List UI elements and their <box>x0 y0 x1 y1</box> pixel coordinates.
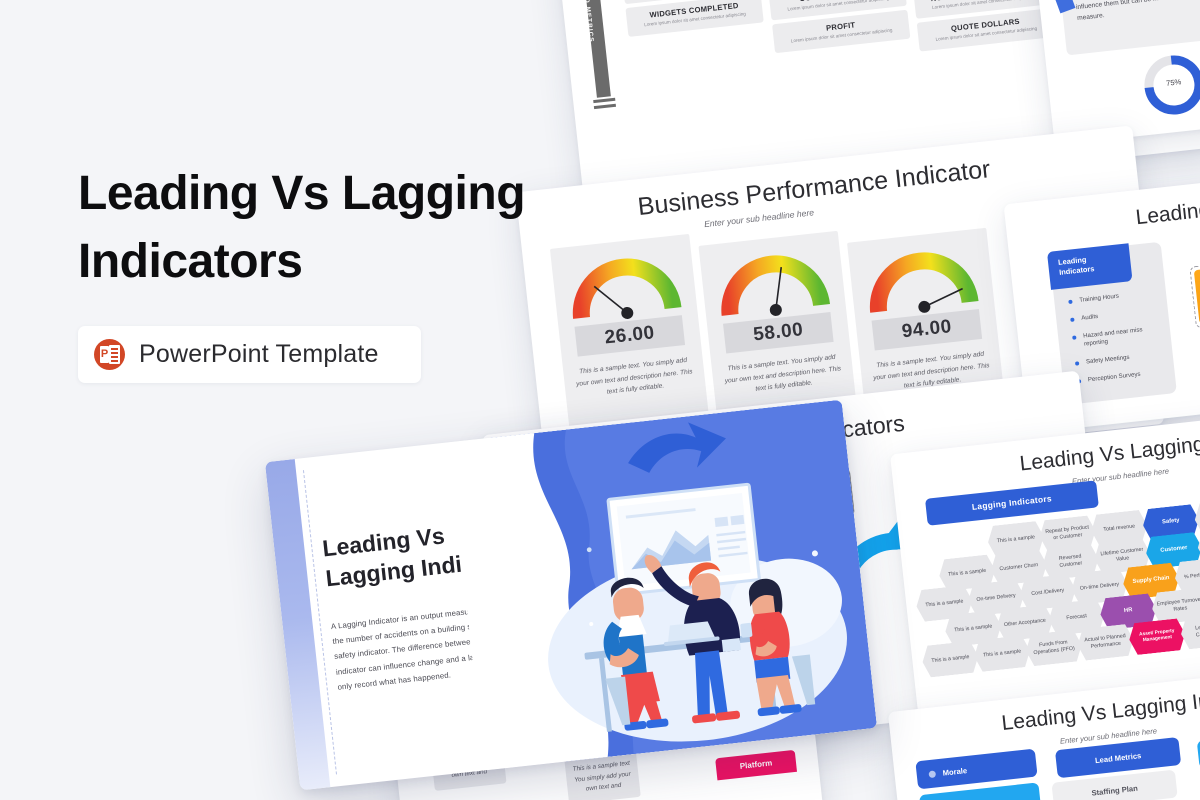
poster-stage: LEAD METRICS LAG METRICS ATTENDANCE Lore… <box>0 0 1200 800</box>
leading-indicator-bubble[interactable]: Leading Indicators Predict goal achievem… <box>1058 0 1200 55</box>
list-item[interactable]: Audits <box>1070 306 1162 325</box>
bubble-text: Predict goal achievement, you can influe… <box>1074 0 1200 25</box>
orange-placeholder-shape <box>1189 261 1200 329</box>
hex-cell[interactable]: This is a sample <box>973 635 1032 673</box>
metric-column: COSTS COMPONENT COST Lorem ipsum dolor s… <box>767 0 911 57</box>
hex-cell[interactable]: Funds From Operations (FFO) <box>1024 629 1083 667</box>
list-item[interactable]: Hazard and near miss reporting <box>1072 324 1165 351</box>
list-item[interactable]: Perception Surveys <box>1077 368 1169 387</box>
hex-cell[interactable]: This is a sample <box>921 640 980 678</box>
button-label: Morale <box>942 766 967 778</box>
card-header: Leading Indicators <box>1047 243 1133 290</box>
meeting-illustration-svg <box>449 400 877 771</box>
left-accent-stripe <box>265 459 330 790</box>
hex-cell-asset-property[interactable]: Asset/ Property Management <box>1128 618 1187 656</box>
list-item[interactable]: Training Hours <box>1068 288 1160 307</box>
platform-pill[interactable]: Platform <box>715 750 797 781</box>
metric-column: DELIVERY MATERIAL AVAILABLE Lorem ipsum … <box>620 0 764 41</box>
leading-indicator-items: Training Hours Audits Hazard and near mi… <box>1068 288 1170 395</box>
gauge-icon <box>565 245 684 325</box>
button-label: Staffing Plan <box>1091 783 1138 797</box>
gauge-description: This is a sample text. You simply add yo… <box>721 351 844 398</box>
gauge-description: This is a sample text. You simply add yo… <box>573 354 696 401</box>
powerpoint-template-badge[interactable]: P PowerPoint Template <box>78 326 421 383</box>
gauge-icon <box>862 239 981 319</box>
badge-label: PowerPoint Template <box>139 340 379 369</box>
powerpoint-icon: P <box>94 339 125 370</box>
bubble-notch <box>1050 0 1075 13</box>
slide-leading-indicators-bubble[interactable]: Leading Indicators Predict goal achievem… <box>1033 0 1200 145</box>
title-line-1: Leading Vs Lagging <box>78 167 525 220</box>
button-morale[interactable]: Morale <box>915 749 1037 790</box>
metric-column: SALES NUMBER OF CALLS MADE Lorem ipsum d… <box>911 0 1055 56</box>
radio-icon <box>928 770 936 778</box>
hex-cell[interactable]: Actual to Planned Performance <box>1076 623 1135 661</box>
slide-leading-vs-lagging-illustration[interactable]: Leading Vs Lagging Indicators A Lagging … <box>265 400 877 791</box>
list-item[interactable]: Safety Meetings <box>1075 350 1167 369</box>
slide-title: Leading Vs Lagging <box>1019 433 1200 477</box>
lead-metrics-arrow-icon <box>569 0 623 119</box>
gauge-icon <box>713 242 832 322</box>
powerpoint-letter: P <box>100 346 109 363</box>
slide-title: Leading Vs <box>1135 195 1200 230</box>
hero-text-block: Leading Vs Lagging Indicators P PowerPoi… <box>78 160 548 383</box>
powerpoint-doc-lines <box>109 345 120 364</box>
meeting-illustration <box>449 400 877 771</box>
metric-box[interactable]: WIDGETS COMPLETED Lorem ipsum dolor sit … <box>625 0 763 37</box>
title-line-2: Indicators <box>78 235 302 288</box>
button-label: Lead Metrics <box>1095 751 1142 765</box>
blue-banner-arrow-icon <box>417 795 553 800</box>
page-title: Leading Vs Lagging Indicators <box>78 160 548 296</box>
